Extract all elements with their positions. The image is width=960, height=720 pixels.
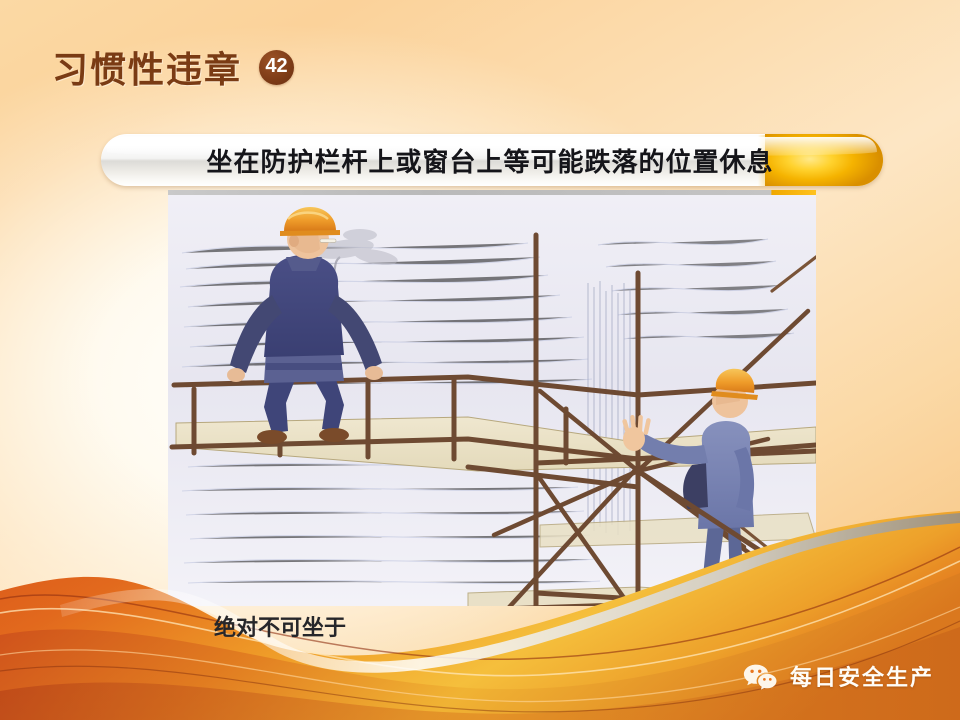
brand-name: 每日安全生产 [790, 660, 934, 692]
subtitle-text: 坐在防护栏杆上或窗台上等可能跌落的位置休息 [101, 134, 883, 186]
illustration-frame: 绝对不可坐于 [168, 190, 816, 606]
illustration-caption: 绝对不可坐于 [214, 610, 346, 642]
page-title: 习惯性违章 [52, 41, 242, 93]
wechat-icon [743, 662, 779, 690]
slide-number-badge: 42 [259, 50, 294, 85]
slide-root: 习惯性违章 42 坐在防护栏杆上或窗台上等可能跌落的位置休息 [0, 0, 960, 720]
footer-brand: 每日安全生产 [743, 660, 934, 692]
subtitle-banner: 坐在防护栏杆上或窗台上等可能跌落的位置休息 [101, 134, 883, 186]
illustration-image [168, 195, 816, 606]
slide-header: 习惯性违章 42 [52, 41, 294, 93]
